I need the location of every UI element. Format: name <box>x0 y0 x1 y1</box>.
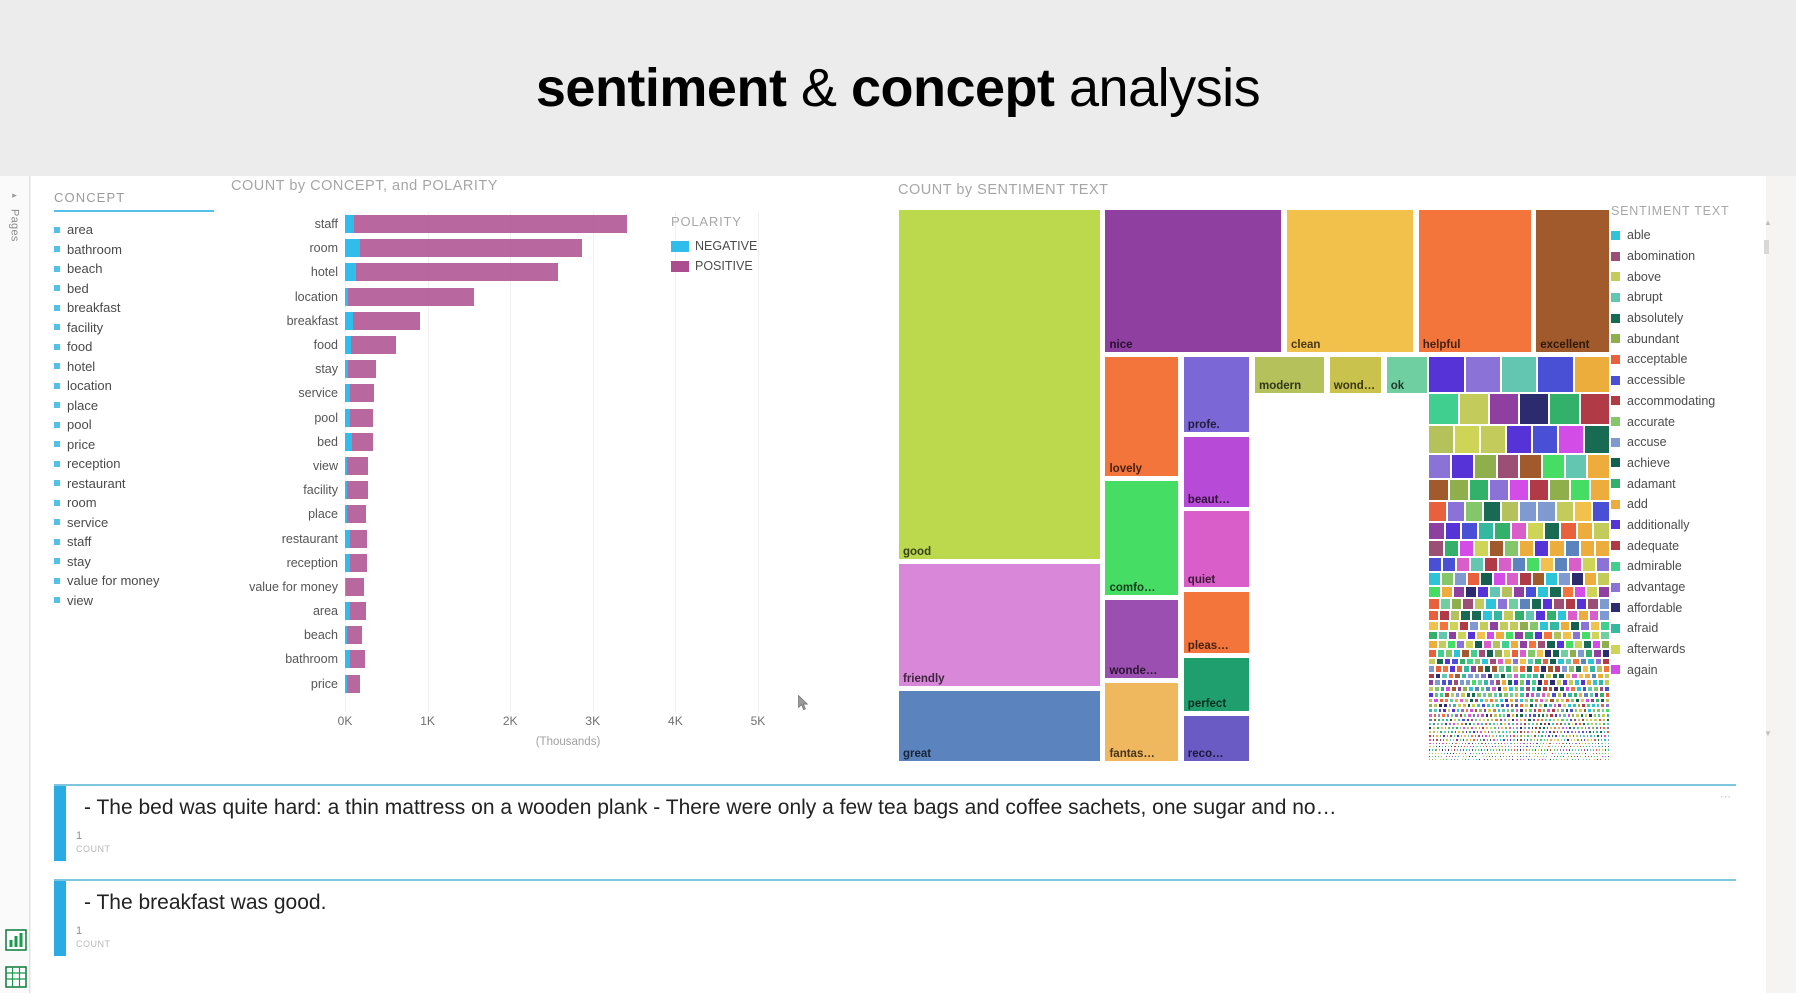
treemap-tile[interactable] <box>1481 658 1489 666</box>
treemap-tile[interactable] <box>1529 479 1549 501</box>
treemap-tile[interactable] <box>1467 572 1480 586</box>
treemap-tile[interactable] <box>1474 454 1497 479</box>
treemap-small-tiles-region[interactable] <box>1428 356 1610 762</box>
treemap-tile[interactable] <box>1587 598 1598 610</box>
bar-segment-positive[interactable] <box>351 336 396 354</box>
treemap-tile[interactable] <box>1574 640 1583 649</box>
treemap-tile[interactable] <box>1442 557 1456 572</box>
treemap-tile[interactable] <box>1537 586 1549 599</box>
treemap-tile[interactable] <box>1451 454 1474 479</box>
treemap-tile[interactable] <box>1587 454 1610 479</box>
treemap-tile[interactable] <box>1597 572 1610 586</box>
treemap-tile[interactable] <box>1465 356 1501 393</box>
treemap-tile[interactable] <box>1442 665 1449 672</box>
sentiment-legend-item[interactable]: again <box>1611 659 1761 680</box>
treemap-tile[interactable] <box>1519 649 1527 657</box>
concept-slicer-item[interactable]: service <box>54 513 219 533</box>
treemap-tile[interactable] <box>1556 640 1565 649</box>
treemap-tile[interactable] <box>1456 557 1470 572</box>
bar-chart-row[interactable]: pool <box>231 406 791 430</box>
sentiment-legend-item[interactable]: accessible <box>1611 370 1761 391</box>
treemap-tile[interactable] <box>1600 631 1610 640</box>
treemap-tile[interactable] <box>1489 586 1501 599</box>
treemap-tile[interactable] <box>1596 665 1603 672</box>
treemap-tile[interactable] <box>1565 640 1574 649</box>
treemap-tile[interactable]: ok <box>1386 356 1429 395</box>
bar-chart-row[interactable]: place <box>231 502 791 526</box>
treemap-tile[interactable] <box>1607 758 1610 761</box>
bar-segment-negative[interactable] <box>345 312 353 330</box>
treemap-tile[interactable] <box>1572 658 1580 666</box>
treemap-tile[interactable] <box>1590 479 1610 501</box>
treemap-tile[interactable] <box>1470 649 1478 657</box>
bar-segment-positive[interactable] <box>354 215 627 233</box>
table-grid-icon[interactable] <box>4 965 28 989</box>
treemap-tile[interactable] <box>1598 586 1610 599</box>
treemap-tile[interactable] <box>1469 621 1479 631</box>
treemap-tile[interactable] <box>1577 522 1594 540</box>
slicer-checkbox-icon[interactable] <box>54 266 60 272</box>
sentiment-legend-item[interactable]: admirable <box>1611 556 1761 577</box>
treemap-tile[interactable] <box>1428 658 1436 666</box>
sentiment-legend-item[interactable]: able <box>1611 225 1761 246</box>
sentiment-legend-item[interactable]: achieve <box>1611 453 1761 474</box>
card-more-options-icon[interactable]: ⋯ <box>1720 790 1731 803</box>
treemap-tile[interactable] <box>1460 610 1471 621</box>
treemap-tile[interactable] <box>1485 598 1496 610</box>
treemap-tile[interactable] <box>1474 640 1483 649</box>
concept-slicer[interactable]: CONCEPT areabathroombeachbedbreakfastfac… <box>54 190 219 590</box>
treemap-tile[interactable] <box>1532 572 1545 586</box>
bar-chart-row[interactable]: area <box>231 599 791 623</box>
treemap-tile[interactable] <box>1553 598 1564 610</box>
treemap-tile[interactable] <box>1444 658 1452 666</box>
treemap-tile[interactable] <box>1602 649 1610 657</box>
treemap-tile[interactable] <box>1428 649 1436 657</box>
treemap-tile[interactable] <box>1527 658 1535 666</box>
treemap-tile[interactable] <box>1449 479 1469 501</box>
bar-chart-row[interactable]: facility <box>231 478 791 502</box>
treemap-tile[interactable] <box>1519 454 1542 479</box>
treemap-tile[interactable] <box>1474 598 1485 610</box>
sentiment-legend-item[interactable]: adamant <box>1611 473 1761 494</box>
treemap-tile[interactable] <box>1581 631 1591 640</box>
treemap-tile[interactable] <box>1580 658 1588 666</box>
treemap-tile[interactable] <box>1591 631 1601 640</box>
treemap-tile[interactable] <box>1428 610 1439 621</box>
treemap-tile[interactable] <box>1480 425 1506 453</box>
treemap-tile[interactable] <box>1604 673 1610 680</box>
treemap-tile[interactable] <box>1456 640 1465 649</box>
treemap-tile[interactable] <box>1542 454 1565 479</box>
bar-chart-row[interactable]: food <box>231 333 791 357</box>
treemap-tile[interactable] <box>1565 658 1573 666</box>
treemap-tile[interactable] <box>1568 557 1582 572</box>
bar-segment-positive[interactable] <box>350 409 373 427</box>
slicer-checkbox-icon[interactable] <box>54 344 60 350</box>
bar-segment-positive[interactable] <box>347 626 362 644</box>
sentiment-legend-item[interactable]: add <box>1611 494 1761 515</box>
treemap-tile[interactable] <box>1461 522 1478 540</box>
treemap-tile[interactable] <box>1560 621 1570 631</box>
treemap-tile[interactable] <box>1459 540 1474 557</box>
sentiment-legend-item[interactable]: afterwards <box>1611 639 1761 660</box>
treemap-tile[interactable] <box>1454 572 1467 586</box>
treemap-tile[interactable] <box>1447 501 1465 521</box>
slicer-checkbox-icon[interactable] <box>54 246 60 252</box>
treemap-tile[interactable] <box>1549 621 1559 631</box>
treemap-tile[interactable] <box>1470 665 1477 672</box>
treemap-tile[interactable] <box>1602 658 1610 666</box>
count-by-sentiment-text-treemap[interactable]: COUNT by SENTIMENT TEXT goodfriendlygrea… <box>866 176 1596 776</box>
treemap-tile[interactable] <box>1533 665 1540 672</box>
sentiment-legend-item[interactable]: afraid <box>1611 618 1761 639</box>
sentiment-legend-item[interactable]: abrupt <box>1611 287 1761 308</box>
treemap-tile[interactable] <box>1477 665 1484 672</box>
treemap-tile[interactable] <box>1428 640 1437 649</box>
treemap-tile[interactable] <box>1532 425 1558 453</box>
bar-chart-row[interactable]: beach <box>231 623 791 647</box>
treemap-tile[interactable] <box>1465 640 1474 649</box>
treemap-tile[interactable] <box>1526 557 1540 572</box>
treemap-tile[interactable] <box>1489 621 1499 631</box>
treemap-tile[interactable] <box>1438 631 1448 640</box>
treemap-tile[interactable] <box>1560 649 1568 657</box>
treemap-tile[interactable] <box>1554 557 1568 572</box>
bar-segment-negative[interactable] <box>345 263 356 281</box>
treemap-tile[interactable] <box>1546 610 1557 621</box>
treemap-tile[interactable] <box>1486 631 1496 640</box>
treemap-tile[interactable] <box>1578 610 1589 621</box>
treemap-tile[interactable]: pleas… <box>1183 591 1251 655</box>
treemap-tile[interactable] <box>1593 649 1601 657</box>
slicer-checkbox-icon[interactable] <box>54 305 60 311</box>
treemap-tile[interactable] <box>1477 586 1489 599</box>
treemap-tile[interactable] <box>1511 649 1519 657</box>
treemap-tile[interactable] <box>1462 598 1473 610</box>
treemap-tile[interactable] <box>1580 393 1610 426</box>
treemap-tile[interactable] <box>1569 649 1577 657</box>
treemap-tile[interactable]: friendly <box>898 563 1101 687</box>
treemap-tile[interactable] <box>1519 621 1529 631</box>
treemap-tile[interactable] <box>1463 665 1470 672</box>
treemap-tile[interactable] <box>1428 356 1464 393</box>
treemap-tile[interactable] <box>1571 572 1584 586</box>
treemap-tile[interactable] <box>1567 610 1578 621</box>
treemap-tile[interactable] <box>1519 665 1526 672</box>
treemap-tile[interactable] <box>1489 479 1509 501</box>
treemap-tile[interactable] <box>1593 522 1610 540</box>
treemap-tile[interactable] <box>1570 621 1580 631</box>
review-card[interactable]: - The breakfast was good. 1 COUNT <box>54 879 1736 956</box>
treemap-tile[interactable] <box>1519 501 1537 521</box>
treemap-tile[interactable] <box>1570 479 1590 501</box>
treemap-tile[interactable] <box>1489 540 1504 557</box>
treemap-tile[interactable] <box>1553 631 1563 640</box>
concept-slicer-item[interactable]: pool <box>54 415 219 435</box>
bar-segment-positive[interactable] <box>350 554 367 572</box>
treemap-tile[interactable] <box>1501 356 1537 393</box>
treemap-tile[interactable] <box>1428 425 1454 453</box>
treemap-tile[interactable] <box>1497 598 1508 610</box>
treemap-tile[interactable] <box>1568 665 1575 672</box>
treemap-tile[interactable] <box>1558 425 1584 453</box>
slicer-checkbox-icon[interactable] <box>54 558 60 564</box>
bar-chart-row[interactable]: location <box>231 285 791 309</box>
treemap-tile[interactable] <box>1580 621 1590 631</box>
bar-segment-negative[interactable] <box>345 433 352 451</box>
treemap-tile[interactable] <box>1529 621 1539 631</box>
polarity-legend-item[interactable]: POSITIVE <box>671 256 791 276</box>
treemap-tile[interactable] <box>1560 522 1577 540</box>
treemap-tile[interactable]: great <box>898 690 1101 762</box>
sentiment-legend-item[interactable]: accuse <box>1611 432 1761 453</box>
concept-slicer-item[interactable]: facility <box>54 318 219 338</box>
treemap-tile[interactable] <box>1572 631 1582 640</box>
treemap-tile[interactable] <box>1603 665 1610 672</box>
concept-slicer-item[interactable]: hotel <box>54 357 219 377</box>
sentiment-legend-item[interactable]: accurate <box>1611 411 1761 432</box>
treemap-tile[interactable] <box>1498 557 1512 572</box>
slicer-checkbox-icon[interactable] <box>54 363 60 369</box>
treemap-tile[interactable] <box>1595 658 1603 666</box>
treemap-tile[interactable] <box>1436 658 1444 666</box>
treemap-tile[interactable] <box>1544 649 1552 657</box>
treemap-tile[interactable] <box>1501 586 1513 599</box>
treemap-tile[interactable] <box>1441 586 1453 599</box>
chevron-right-icon[interactable]: ▸ <box>0 190 29 201</box>
treemap-tile[interactable] <box>1549 479 1569 501</box>
treemap-tile[interactable] <box>1545 572 1558 586</box>
treemap-tile[interactable] <box>1582 665 1589 672</box>
treemap-tile[interactable] <box>1478 522 1495 540</box>
treemap-tile[interactable] <box>1453 586 1465 599</box>
treemap-tile[interactable] <box>1480 572 1493 586</box>
treemap-tile[interactable] <box>1459 393 1489 426</box>
treemap-tile[interactable] <box>1451 658 1459 666</box>
treemap-tile[interactable] <box>1484 557 1498 572</box>
treemap-tile[interactable] <box>1459 658 1467 666</box>
treemap-tile[interactable] <box>1439 621 1449 631</box>
slicer-checkbox-icon[interactable] <box>54 383 60 389</box>
treemap-tile[interactable] <box>1465 501 1483 521</box>
treemap-tile[interactable] <box>1580 540 1595 557</box>
treemap-tile[interactable] <box>1540 557 1554 572</box>
treemap-tile[interactable] <box>1497 454 1520 479</box>
treemap-tile[interactable] <box>1519 640 1528 649</box>
treemap-tile[interactable] <box>1531 598 1542 610</box>
treemap-tile[interactable] <box>1439 610 1450 621</box>
treemap-tile[interactable] <box>1526 665 1533 672</box>
treemap-tile[interactable]: helpful <box>1418 209 1532 353</box>
review-card[interactable]: - The bed was quite hard: a thin mattres… <box>54 784 1736 861</box>
treemap-tile[interactable] <box>1465 586 1477 599</box>
bar-segment-positive[interactable] <box>350 384 374 402</box>
treemap-tile[interactable] <box>1524 631 1534 640</box>
treemap-tile[interactable] <box>1565 540 1580 557</box>
treemap-tile[interactable]: wond… <box>1329 356 1382 395</box>
treemap-tile[interactable] <box>1478 649 1486 657</box>
bar-chart-row[interactable]: bathroom <box>231 647 791 671</box>
sentiment-legend-item[interactable]: above <box>1611 266 1761 287</box>
concept-slicer-item[interactable]: price <box>54 435 219 455</box>
treemap-tile[interactable] <box>1590 621 1600 631</box>
treemap-tile[interactable] <box>1547 665 1554 672</box>
concept-slicer-item[interactable]: area <box>54 220 219 240</box>
treemap-tile[interactable] <box>1509 479 1529 501</box>
treemap-tile[interactable] <box>1451 598 1462 610</box>
concept-slicer-item[interactable]: beach <box>54 259 219 279</box>
treemap-tile[interactable] <box>1474 658 1482 666</box>
polarity-legend[interactable]: POLARITY NEGATIVEPOSITIVE <box>671 214 791 276</box>
treemap-tile[interactable]: reco… <box>1183 715 1251 762</box>
treemap-tile[interactable] <box>1428 479 1448 501</box>
treemap-tile[interactable] <box>1484 665 1491 672</box>
bar-segment-positive[interactable] <box>347 457 368 475</box>
treemap-tile[interactable] <box>1600 621 1610 631</box>
treemap-tile[interactable] <box>1511 522 1528 540</box>
treemap-tile[interactable] <box>1501 640 1510 649</box>
treemap-tile[interactable]: perfect <box>1183 657 1251 712</box>
treemap-tile[interactable] <box>1501 501 1519 521</box>
treemap-tile[interactable] <box>1512 665 1519 672</box>
treemap-tile[interactable] <box>1562 586 1574 599</box>
treemap-tile[interactable] <box>1534 540 1549 557</box>
treemap-tile[interactable] <box>1499 621 1509 631</box>
treemap-tile[interactable] <box>1491 665 1498 672</box>
treemap-tile[interactable] <box>1510 640 1519 649</box>
sentiment-legend-item[interactable]: adequate <box>1611 535 1761 556</box>
treemap-tile[interactable] <box>1587 658 1595 666</box>
treemap-tile[interactable] <box>1506 425 1532 453</box>
treemap-tile[interactable] <box>1586 586 1598 599</box>
treemap-tile[interactable] <box>1595 540 1610 557</box>
treemap-tile[interactable] <box>1497 658 1505 666</box>
slicer-checkbox-icon[interactable] <box>54 324 60 330</box>
concept-slicer-item[interactable]: breakfast <box>54 298 219 318</box>
concept-slicer-list[interactable]: areabathroombeachbedbreakfastfacilityfoo… <box>54 220 219 610</box>
bar-chart-row[interactable]: stay <box>231 357 791 381</box>
treemap-tile[interactable] <box>1542 598 1553 610</box>
treemap-tile[interactable] <box>1494 522 1511 540</box>
treemap-tile[interactable] <box>1503 610 1514 621</box>
legend-scrollbar-thumb[interactable] <box>1764 240 1769 254</box>
treemap-tile[interactable] <box>1519 658 1527 666</box>
treemap-tile[interactable] <box>1549 586 1561 599</box>
bar-segment-positive[interactable] <box>356 263 558 281</box>
treemap-tile[interactable] <box>1589 610 1600 621</box>
treemap-tile[interactable] <box>1448 631 1458 640</box>
bar-chart-row[interactable]: view <box>231 454 791 478</box>
treemap-tile[interactable] <box>1494 649 1502 657</box>
treemap-tile[interactable] <box>1453 649 1461 657</box>
treemap-tile[interactable] <box>1493 572 1506 586</box>
treemap-tile[interactable]: wonde… <box>1104 599 1179 679</box>
treemap-tile[interactable] <box>1440 598 1451 610</box>
treemap-tile[interactable] <box>1428 540 1443 557</box>
treemap-tile[interactable] <box>1441 572 1454 586</box>
treemap-tile[interactable] <box>1539 621 1549 631</box>
bar-segment-negative[interactable] <box>345 215 354 233</box>
treemap-tile[interactable] <box>1505 631 1515 640</box>
slicer-checkbox-icon[interactable] <box>54 500 60 506</box>
treemap-tile[interactable] <box>1504 540 1519 557</box>
treemap-tile[interactable] <box>1483 640 1492 649</box>
treemap-tile[interactable]: nice <box>1104 209 1282 353</box>
bar-chart-icon[interactable] <box>4 928 28 952</box>
treemap-tile[interactable] <box>1482 610 1493 621</box>
treemap-tile[interactable] <box>1584 425 1610 453</box>
treemap-tile[interactable] <box>1589 665 1596 672</box>
treemap-tile[interactable] <box>1544 522 1561 540</box>
treemap-tile[interactable] <box>1450 610 1461 621</box>
treemap-tile[interactable] <box>1428 572 1441 586</box>
sentiment-legend-item[interactable]: affordable <box>1611 597 1761 618</box>
legend-scrollbar[interactable]: ▲ ▼ <box>1764 218 1769 738</box>
sentiment-legend-item[interactable]: additionally <box>1611 515 1761 536</box>
treemap-tile[interactable] <box>1574 501 1592 521</box>
treemap-tile[interactable] <box>1428 621 1438 631</box>
bar-chart-row[interactable]: breakfast <box>231 309 791 333</box>
treemap-tile[interactable] <box>1558 572 1571 586</box>
treemap-tile[interactable] <box>1514 631 1524 640</box>
treemap-tile[interactable] <box>1557 658 1565 666</box>
treemap-tile[interactable] <box>1557 610 1568 621</box>
bar-segment-negative[interactable] <box>345 239 360 257</box>
treemap-tile[interactable] <box>1585 649 1593 657</box>
treemap-tile[interactable] <box>1428 393 1458 426</box>
treemap-tile[interactable] <box>1519 393 1549 426</box>
slicer-checkbox-icon[interactable] <box>54 285 60 291</box>
treemap-tile[interactable] <box>1428 586 1440 599</box>
treemap-tile[interactable] <box>1428 501 1446 521</box>
treemap-tile[interactable] <box>1542 658 1550 666</box>
treemap-tile[interactable] <box>1592 640 1601 649</box>
treemap-tile[interactable] <box>1599 610 1610 621</box>
treemap-tile[interactable] <box>1495 631 1505 640</box>
treemap-tile[interactable] <box>1534 631 1544 640</box>
concept-slicer-item[interactable]: staff <box>54 532 219 552</box>
treemap-tile[interactable] <box>1512 658 1520 666</box>
treemap-tile[interactable]: excellent <box>1535 209 1610 353</box>
bar-chart-row[interactable]: value for money <box>231 575 791 599</box>
sentiment-legend-item[interactable]: absolutely <box>1611 308 1761 329</box>
treemap-tile[interactable] <box>1562 631 1572 640</box>
treemap-tile[interactable] <box>1537 640 1546 649</box>
treemap-tile[interactable] <box>1459 621 1469 631</box>
treemap-tile[interactable] <box>1556 501 1574 521</box>
polarity-legend-item[interactable]: NEGATIVE <box>671 236 791 256</box>
bar-chart-row[interactable]: service <box>231 381 791 405</box>
treemap-tile[interactable] <box>1445 649 1453 657</box>
treemap-tile[interactable] <box>1561 665 1568 672</box>
treemap-tile[interactable] <box>1461 649 1469 657</box>
bar-chart-row[interactable]: restaurant <box>231 526 791 550</box>
concept-slicer-item[interactable]: restaurant <box>54 474 219 494</box>
treemap-tile[interactable] <box>1527 649 1535 657</box>
bar-segment-positive[interactable] <box>347 675 360 693</box>
bar-segment-positive[interactable] <box>347 481 367 499</box>
treemap-tile[interactable] <box>1519 540 1534 557</box>
treemap-tile[interactable] <box>1456 665 1463 672</box>
treemap-tile[interactable] <box>1584 572 1597 586</box>
treemap-tile[interactable]: quiet <box>1183 510 1251 587</box>
pages-pane-collapsed[interactable]: ▸ Pages <box>0 176 30 993</box>
bar-segment-positive[interactable] <box>352 433 373 451</box>
bar-segment-positive[interactable] <box>347 505 366 523</box>
treemap-tile[interactable] <box>1449 665 1456 672</box>
concept-slicer-item[interactable]: room <box>54 493 219 513</box>
